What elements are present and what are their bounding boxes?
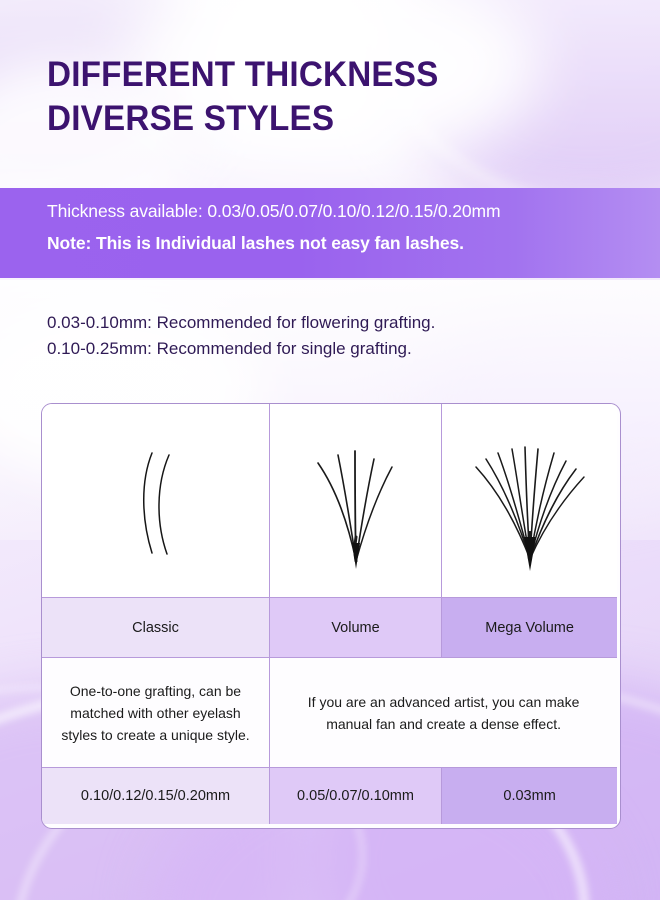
volume-thickness: 0.05/0.07/0.10mm bbox=[270, 768, 442, 824]
volume-fan-lash-icon bbox=[286, 411, 426, 591]
classic-thickness: 0.10/0.12/0.15/0.20mm bbox=[42, 768, 270, 824]
column-name-classic: Classic bbox=[42, 598, 270, 658]
table-row-thickness: 0.10/0.12/0.15/0.20mm 0.05/0.07/0.10mm 0… bbox=[42, 768, 620, 824]
classic-lash-image-cell bbox=[42, 404, 270, 598]
highlight-band: Thickness available: 0.03/0.05/0.07/0.10… bbox=[0, 188, 660, 278]
column-name-volume: Volume bbox=[270, 598, 442, 658]
volume-lash-image-cell bbox=[270, 404, 442, 598]
page-root: DIFFERENT THICKNESS DIVERSE STYLES Thick… bbox=[0, 0, 660, 900]
classic-lash-icon bbox=[96, 411, 216, 591]
mega-volume-lash-image-cell bbox=[442, 404, 617, 598]
volume-mega-description: If you are an advanced artist, you can m… bbox=[270, 658, 617, 768]
mega-volume-fan-lash-icon bbox=[450, 411, 610, 591]
column-name-mega-volume: Mega Volume bbox=[442, 598, 617, 658]
page-title: DIFFERENT THICKNESS DIVERSE STYLES bbox=[47, 53, 589, 141]
recommendation-line: 0.10-0.25mm: Recommended for single graf… bbox=[47, 336, 627, 362]
table-row-images bbox=[42, 404, 620, 598]
mega-volume-thickness: 0.03mm bbox=[442, 768, 617, 824]
thickness-available-text: Thickness available: 0.03/0.05/0.07/0.10… bbox=[47, 201, 501, 222]
note-text: Note: This is Individual lashes not easy… bbox=[47, 233, 464, 254]
recommendation-line: 0.03-0.10mm: Recommended for flowering g… bbox=[47, 310, 627, 336]
table-row-descriptions: One-to-one grafting, can be matched with… bbox=[42, 658, 620, 768]
classic-description: One-to-one grafting, can be matched with… bbox=[42, 658, 270, 768]
comparison-table: Classic Volume Mega Volume One-to-one gr… bbox=[41, 403, 621, 829]
recommendation-list: 0.03-0.10mm: Recommended for flowering g… bbox=[47, 310, 627, 362]
table-row-names: Classic Volume Mega Volume bbox=[42, 598, 620, 658]
